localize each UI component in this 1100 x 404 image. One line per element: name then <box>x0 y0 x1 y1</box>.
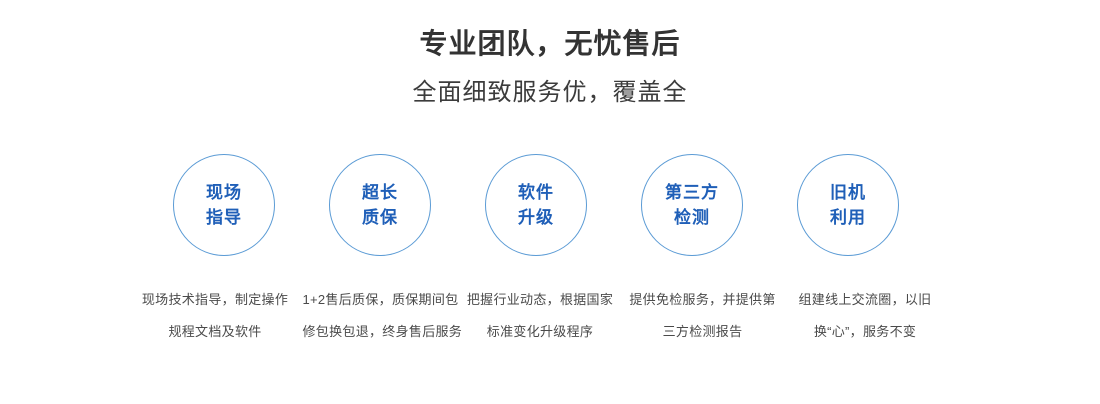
feature-circle-4[interactable]: 第三方 检测 <box>641 154 743 256</box>
feature-description-3-line1: 把握行业动态，根据国家 <box>465 284 615 316</box>
feature-description-2-line1: 1+2售后质保，质保期间包 <box>303 284 453 316</box>
feature-circle-5-line2: 利用 <box>830 205 866 230</box>
feature-description-5-line1: 组建线上交流圈，以旧 <box>790 284 940 316</box>
after-sales-service-section: 专业团队，无忧售后 全面细致服务优，覆盖全 现场 指导 超长 质保 软件 升级 … <box>0 0 1100 404</box>
feature-circle-3-line1: 软件 <box>518 180 554 205</box>
feature-circle-5[interactable]: 旧机 利用 <box>797 154 899 256</box>
feature-description-1: 现场技术指导，制定操作 规程文档及软件 <box>140 284 290 348</box>
feature-description-2-line2: 修包换包退，终身售后服务 <box>303 316 453 348</box>
feature-description-5-line2: 换“心”，服务不变 <box>790 316 940 348</box>
feature-circle-5-line1: 旧机 <box>830 180 866 205</box>
feature-description-3: 把握行业动态，根据国家 标准变化升级程序 <box>465 284 615 348</box>
feature-circle-1-line1: 现场 <box>206 180 242 205</box>
feature-circles-row: 现场 指导 超长 质保 软件 升级 第三方 检测 旧机 利用 <box>173 154 899 258</box>
page-subtitle: 全面细致服务优，覆盖全 <box>0 76 1100 110</box>
feature-circle-3[interactable]: 软件 升级 <box>485 154 587 256</box>
feature-description-4-line1: 提供免检服务，并提供第 <box>628 284 778 316</box>
feature-circle-2[interactable]: 超长 质保 <box>329 154 431 256</box>
feature-circle-3-line2: 升级 <box>518 205 554 230</box>
feature-description-1-line1: 现场技术指导，制定操作 <box>140 284 290 316</box>
section-heading: 专业团队，无忧售后 全面细致服务优，覆盖全 <box>0 26 1100 110</box>
feature-description-3-line2: 标准变化升级程序 <box>465 316 615 348</box>
feature-circle-4-line1: 第三方 <box>665 180 719 205</box>
feature-description-4-line2: 三方检测报告 <box>628 316 778 348</box>
page-title: 专业团队，无忧售后 <box>0 26 1100 62</box>
feature-description-5: 组建线上交流圈，以旧 换“心”，服务不变 <box>790 284 940 348</box>
feature-descriptions-row: 现场技术指导，制定操作 规程文档及软件 1+2售后质保，质保期间包 修包换包退，… <box>140 284 940 348</box>
feature-circle-1[interactable]: 现场 指导 <box>173 154 275 256</box>
feature-circle-2-line2: 质保 <box>362 205 398 230</box>
feature-circle-4-line2: 检测 <box>674 205 710 230</box>
feature-description-2: 1+2售后质保，质保期间包 修包换包退，终身售后服务 <box>303 284 453 348</box>
feature-circle-2-line1: 超长 <box>362 180 398 205</box>
feature-description-4: 提供免检服务，并提供第 三方检测报告 <box>628 284 778 348</box>
feature-description-1-line2: 规程文档及软件 <box>140 316 290 348</box>
feature-circle-1-line2: 指导 <box>206 205 242 230</box>
